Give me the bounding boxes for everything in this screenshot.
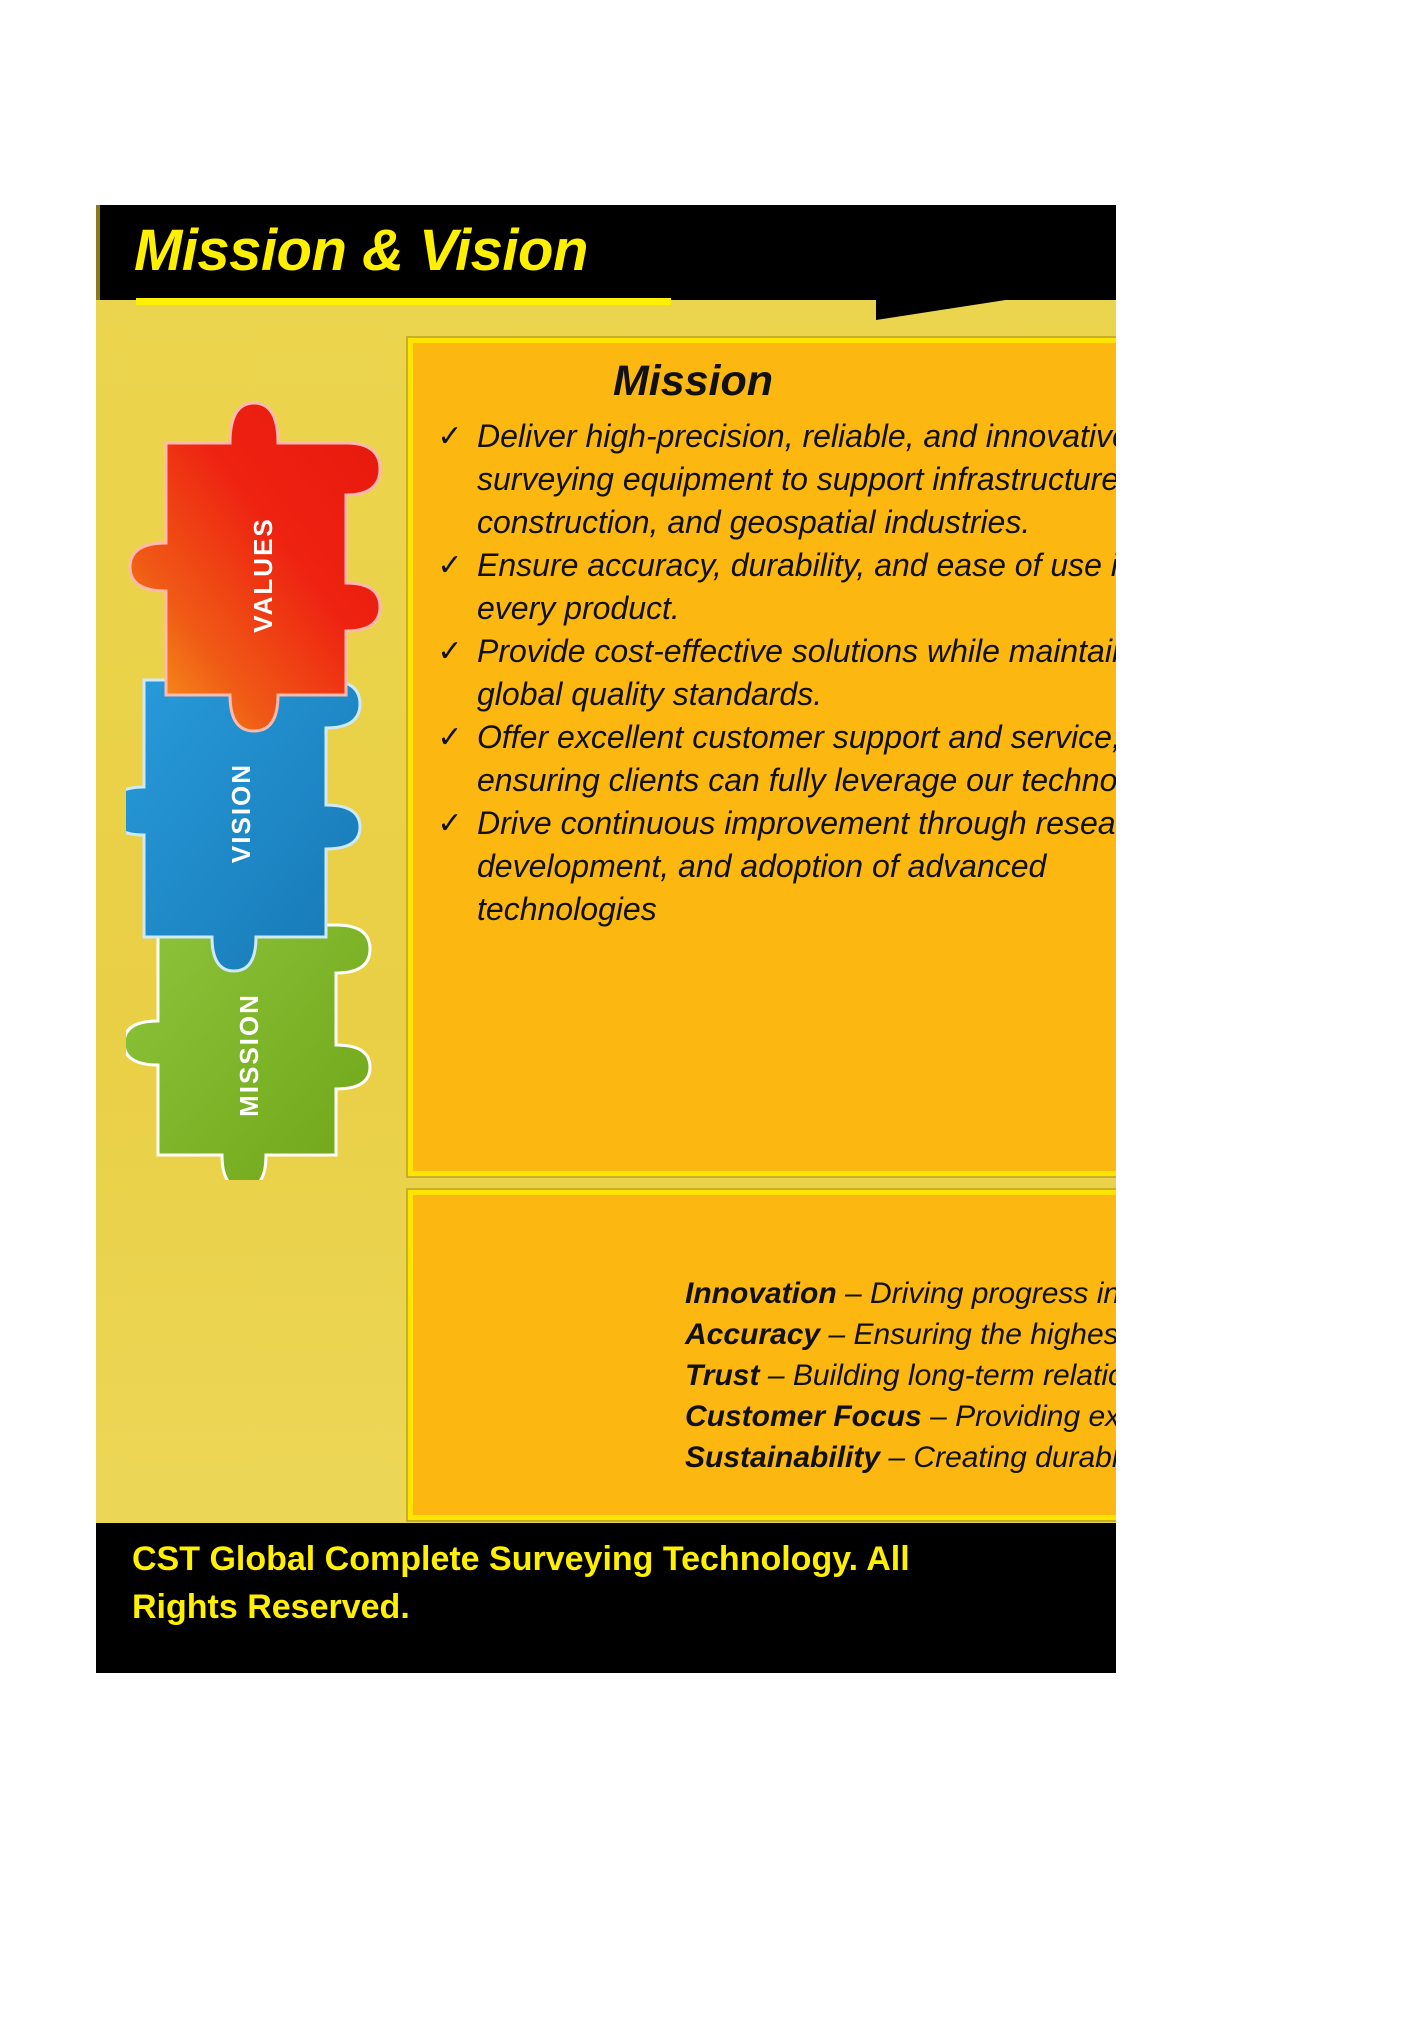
page-title: Mission & Vision bbox=[134, 213, 588, 289]
footer-bar: CST Global Complete Surveying Technology… bbox=[96, 1523, 1116, 1673]
mission-bullet: ✓ Deliver high-precision, reliable, and … bbox=[423, 415, 1116, 458]
mission-bullet-line: Ensure accuracy, durability, and ease of… bbox=[477, 544, 1116, 587]
mission-bullet-line: global quality standards. bbox=[423, 673, 1116, 716]
value-item: Sustainability – Creating durable, eco-c… bbox=[685, 1437, 1116, 1478]
mission-bullet-line: surveying equipment to support infrastru… bbox=[423, 458, 1116, 501]
check-icon: ✓ bbox=[423, 415, 477, 458]
mission-bullet-line: Drive continuous improvement through res… bbox=[477, 802, 1116, 845]
value-desc: – Building long-term relationships with … bbox=[768, 1359, 1116, 1392]
value-desc: – Providing exceptional service and supp… bbox=[930, 1400, 1116, 1433]
mission-box: Mission ✓ Deliver high-precision, reliab… bbox=[408, 338, 1116, 1176]
check-icon: ✓ bbox=[423, 716, 477, 759]
value-term: Sustainability bbox=[685, 1441, 880, 1474]
mission-bullet-line: ensuring clients can fully leverage our … bbox=[423, 759, 1116, 802]
mission-bullet: ✓ Offer excellent customer support and s… bbox=[423, 716, 1116, 759]
puzzle-graphic: MISSION VISION VALUES bbox=[126, 365, 401, 1180]
values-box: Innovation – Driving progress in surveyi… bbox=[408, 1190, 1116, 1520]
value-term: Trust bbox=[685, 1359, 759, 1392]
check-icon: ✓ bbox=[423, 802, 477, 845]
mission-bullet-line: Provide cost-effective solutions while m… bbox=[477, 630, 1116, 673]
mission-bullet: ✓ Provide cost-effective solutions while… bbox=[423, 630, 1116, 673]
banner-left-accent bbox=[96, 205, 100, 300]
value-desc: – Creating durable, eco-conscious soluti… bbox=[888, 1441, 1116, 1474]
mission-bullet-line: construction, and geospatial industries. bbox=[423, 501, 1116, 544]
value-item: Trust – Building long-term relationships… bbox=[685, 1355, 1116, 1396]
value-term: Customer Focus bbox=[685, 1400, 922, 1433]
puzzle-piece-values: VALUES bbox=[130, 403, 380, 731]
puzzle-label-values: VALUES bbox=[248, 517, 278, 633]
mission-bullet: ✓ Drive continuous improvement through r… bbox=[423, 802, 1116, 845]
check-icon: ✓ bbox=[423, 544, 477, 587]
value-item: Innovation – Driving progress in surveyi… bbox=[685, 1273, 1116, 1314]
puzzle-label-vision: VISION bbox=[226, 763, 256, 863]
puzzle-label-mission: MISSION bbox=[234, 993, 264, 1117]
mission-bullet-line: Deliver high-precision, reliable, and in… bbox=[477, 415, 1116, 458]
value-item: Accuracy – Ensuring the highest precisio… bbox=[685, 1314, 1116, 1355]
value-desc: – Ensuring the highest precision in ever… bbox=[828, 1318, 1116, 1351]
mission-bullet-list: ✓ Deliver high-precision, reliable, and … bbox=[423, 415, 1116, 931]
check-icon: ✓ bbox=[423, 630, 477, 673]
value-item: Customer Focus – Providing exceptional s… bbox=[685, 1396, 1116, 1437]
value-term: Innovation bbox=[685, 1277, 837, 1310]
copyright-text: CST Global Complete Surveying Technology… bbox=[132, 1535, 1012, 1631]
values-list: Innovation – Driving progress in surveyi… bbox=[685, 1273, 1116, 1478]
mission-bullet-line: Offer excellent customer support and ser… bbox=[477, 716, 1116, 759]
mission-bullet-line: every product. bbox=[423, 587, 1116, 630]
value-desc: – Driving progress in surveying technolo… bbox=[845, 1277, 1116, 1310]
mission-heading: Mission bbox=[413, 357, 973, 406]
slide: Mission & Vision bbox=[96, 205, 1116, 1673]
mission-bullet: ✓ Ensure accuracy, durability, and ease … bbox=[423, 544, 1116, 587]
value-term: Accuracy bbox=[685, 1318, 820, 1351]
mission-bullet-line: development, and adoption of advanced bbox=[423, 845, 1116, 888]
title-underline bbox=[136, 298, 671, 305]
mission-bullet-line: technologies bbox=[423, 888, 1116, 931]
